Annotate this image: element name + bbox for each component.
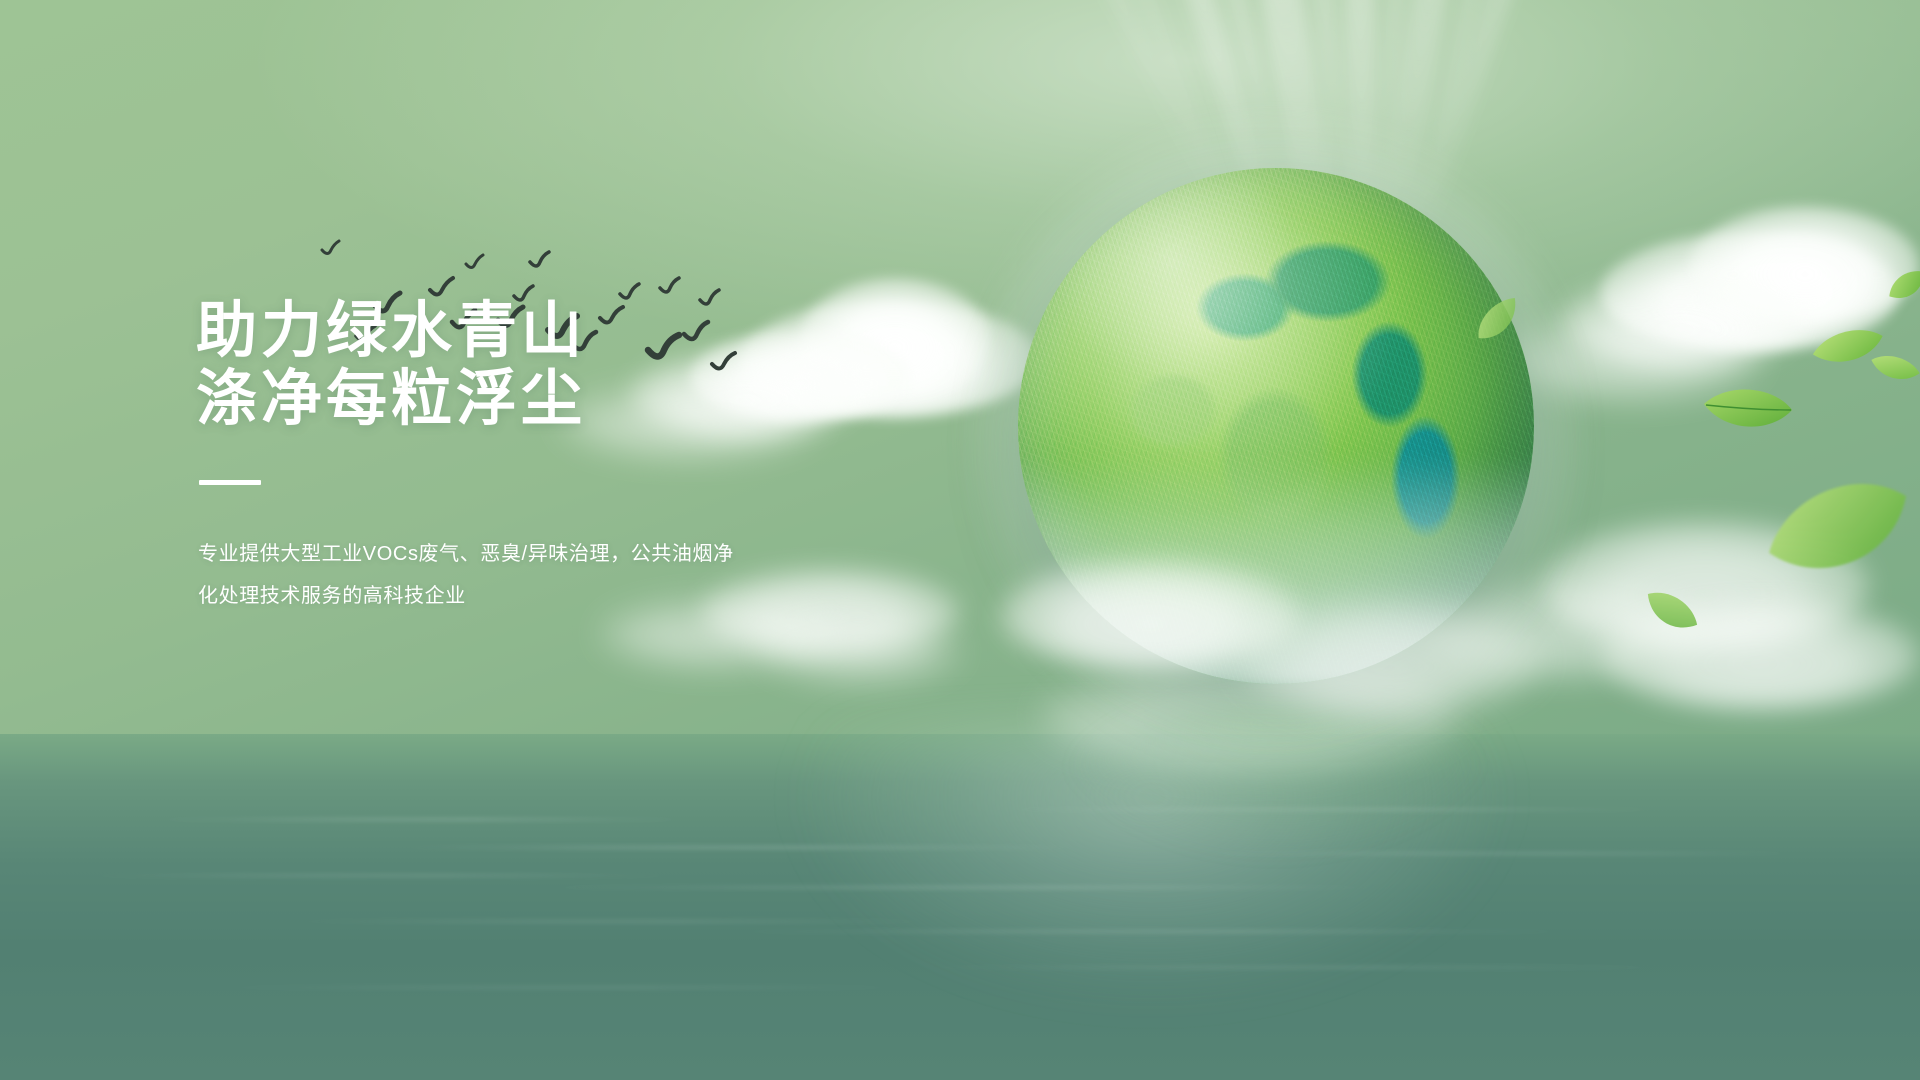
hero-copy: 助力绿水青山 涤净每粒浮尘 专业提供大型工业VOCs废气、恶臭/异味治理，公共油… <box>196 296 836 617</box>
hero-subtitle: 专业提供大型工业VOCs废气、恶臭/异味治理，公共油烟净化处理技术服务的高科技企… <box>198 533 738 617</box>
hero-banner: 助力绿水青山 涤净每粒浮尘 专业提供大型工业VOCs废气、恶臭/异味治理，公共油… <box>0 0 1920 1080</box>
water-ripples <box>0 734 1920 1080</box>
title-divider <box>199 480 261 485</box>
green-earth-globe <box>1018 168 1534 684</box>
globe-mist-veil <box>1018 457 1534 684</box>
page-title: 助力绿水青山 涤净每粒浮尘 <box>196 296 836 433</box>
globe-sphere <box>1018 168 1534 684</box>
headline-line-2: 涤净每粒浮尘 <box>196 364 836 432</box>
headline-line-1: 助力绿水青山 <box>196 296 586 364</box>
